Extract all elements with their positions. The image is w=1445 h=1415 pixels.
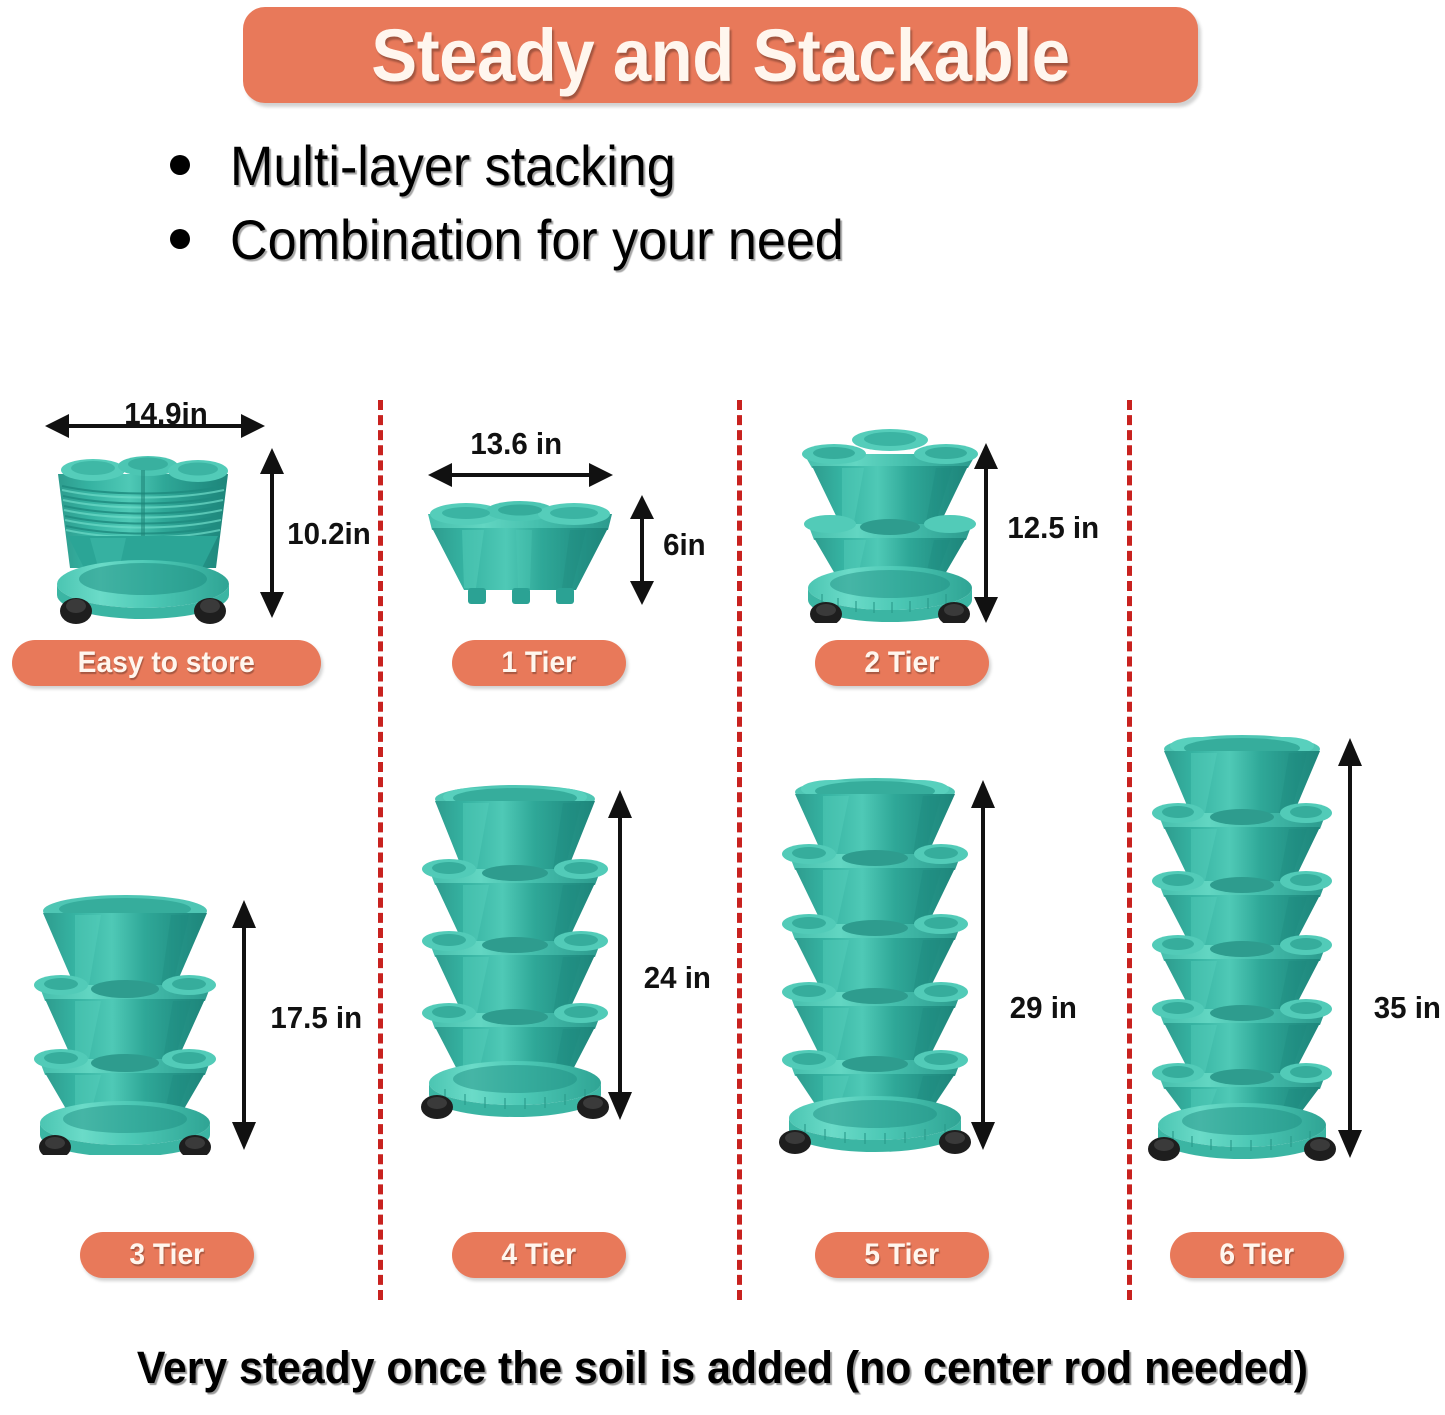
footer-caption: Very steady once the soil is added (no c… [137,1342,1308,1394]
footer-caption-wrap: Very steady once the soil is added (no c… [0,1342,1445,1394]
dimension-height-arrow [224,900,264,1150]
bullet-label: Combination for your need [230,207,844,272]
product-badge-3-tier[interactable]: 3 Tier [80,1232,254,1278]
product-label: 4 Tier [502,1238,577,1272]
planter-illustration-easy-to-store [38,440,248,625]
product-label: 5 Tier [865,1238,940,1272]
planter-illustration-3-tier [25,895,225,1155]
product-badge-2-tier[interactable]: 2 Tier [815,640,989,686]
product-label: 6 Tier [1220,1238,1295,1272]
product-badge-5-tier[interactable]: 5 Tier [815,1232,989,1278]
product-badge-easy-to-store[interactable]: Easy to store [12,640,321,686]
product-badge-1-tier[interactable]: 1 Tier [452,640,626,686]
list-item: Multi-layer stacking [170,128,1270,202]
dimension-height-label: 35 in [1374,990,1441,1026]
bullet-dot-icon [170,155,190,175]
product-label: Easy to store [78,646,255,680]
product-label: 1 Tier [502,646,577,680]
planter-illustration-5-tier [775,778,975,1158]
product-label: 3 Tier [130,1238,205,1272]
dimension-height-label: 10.2in [287,516,370,552]
dimension-height-label: 6in [663,527,706,563]
product-badge-6-tier[interactable]: 6 Tier [1170,1232,1344,1278]
product-label: 2 Tier [865,646,940,680]
column-divider-3 [1127,400,1132,1300]
dimension-height-label: 17.5 in [270,1000,362,1036]
dimension-height-arrow [252,448,292,618]
planter-illustration-1-tier [420,498,620,608]
column-divider-1 [378,400,383,1300]
planter-illustration-4-tier [415,785,615,1125]
bullet-label: Multi-layer stacking [230,133,676,198]
dimension-height-label: 29 in [1010,990,1077,1026]
planter-illustration-6-tier [1145,735,1340,1163]
feature-bullet-list: Multi-layer stacking Combination for you… [170,128,1270,276]
dimension-height-label: 12.5 in [1007,510,1099,546]
title-badge: Steady and Stackable [243,7,1198,103]
column-divider-2 [737,400,742,1300]
dimension-height-arrow [622,495,662,605]
bullet-dot-icon [170,229,190,249]
planter-illustration-2-tier [790,428,990,623]
page-title: Steady and Stackable [371,13,1069,98]
list-item: Combination for your need [170,202,1270,276]
product-badge-4-tier[interactable]: 4 Tier [452,1232,626,1278]
dimension-width-arrow [428,455,613,495]
dimension-height-label: 24 in [644,960,711,996]
